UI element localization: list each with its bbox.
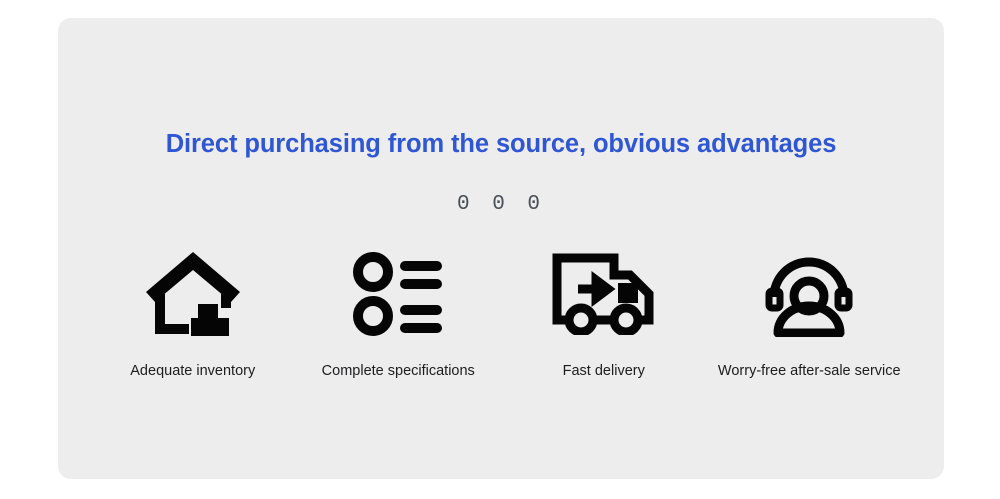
feature-label: Complete specifications (322, 364, 475, 379)
feature-label: Fast delivery (563, 364, 645, 379)
warehouse-inventory-icon (143, 246, 243, 342)
feature-item-after-sale-service: Worry-free after-sale service (707, 246, 913, 379)
advantages-card: Direct purchasing from the source, obvio… (58, 18, 944, 479)
feature-label: Adequate inventory (130, 364, 255, 379)
promo-page: Direct purchasing from the source, obvio… (0, 0, 1000, 499)
feature-item-complete-specifications: Complete specifications (296, 246, 502, 379)
divider-ornament: 0 0 0 (58, 194, 944, 215)
delivery-truck-icon (552, 246, 656, 342)
customer-service-headset-icon (760, 246, 858, 342)
feature-item-fast-delivery: Fast delivery (501, 246, 707, 379)
specification-list-icon (352, 246, 444, 342)
page-title: Direct purchasing from the source, obvio… (58, 130, 944, 159)
features-row: Adequate inventory Complete specificatio… (58, 246, 944, 379)
feature-label: Worry-free after-sale service (718, 364, 901, 379)
feature-item-adequate-inventory: Adequate inventory (90, 246, 296, 379)
